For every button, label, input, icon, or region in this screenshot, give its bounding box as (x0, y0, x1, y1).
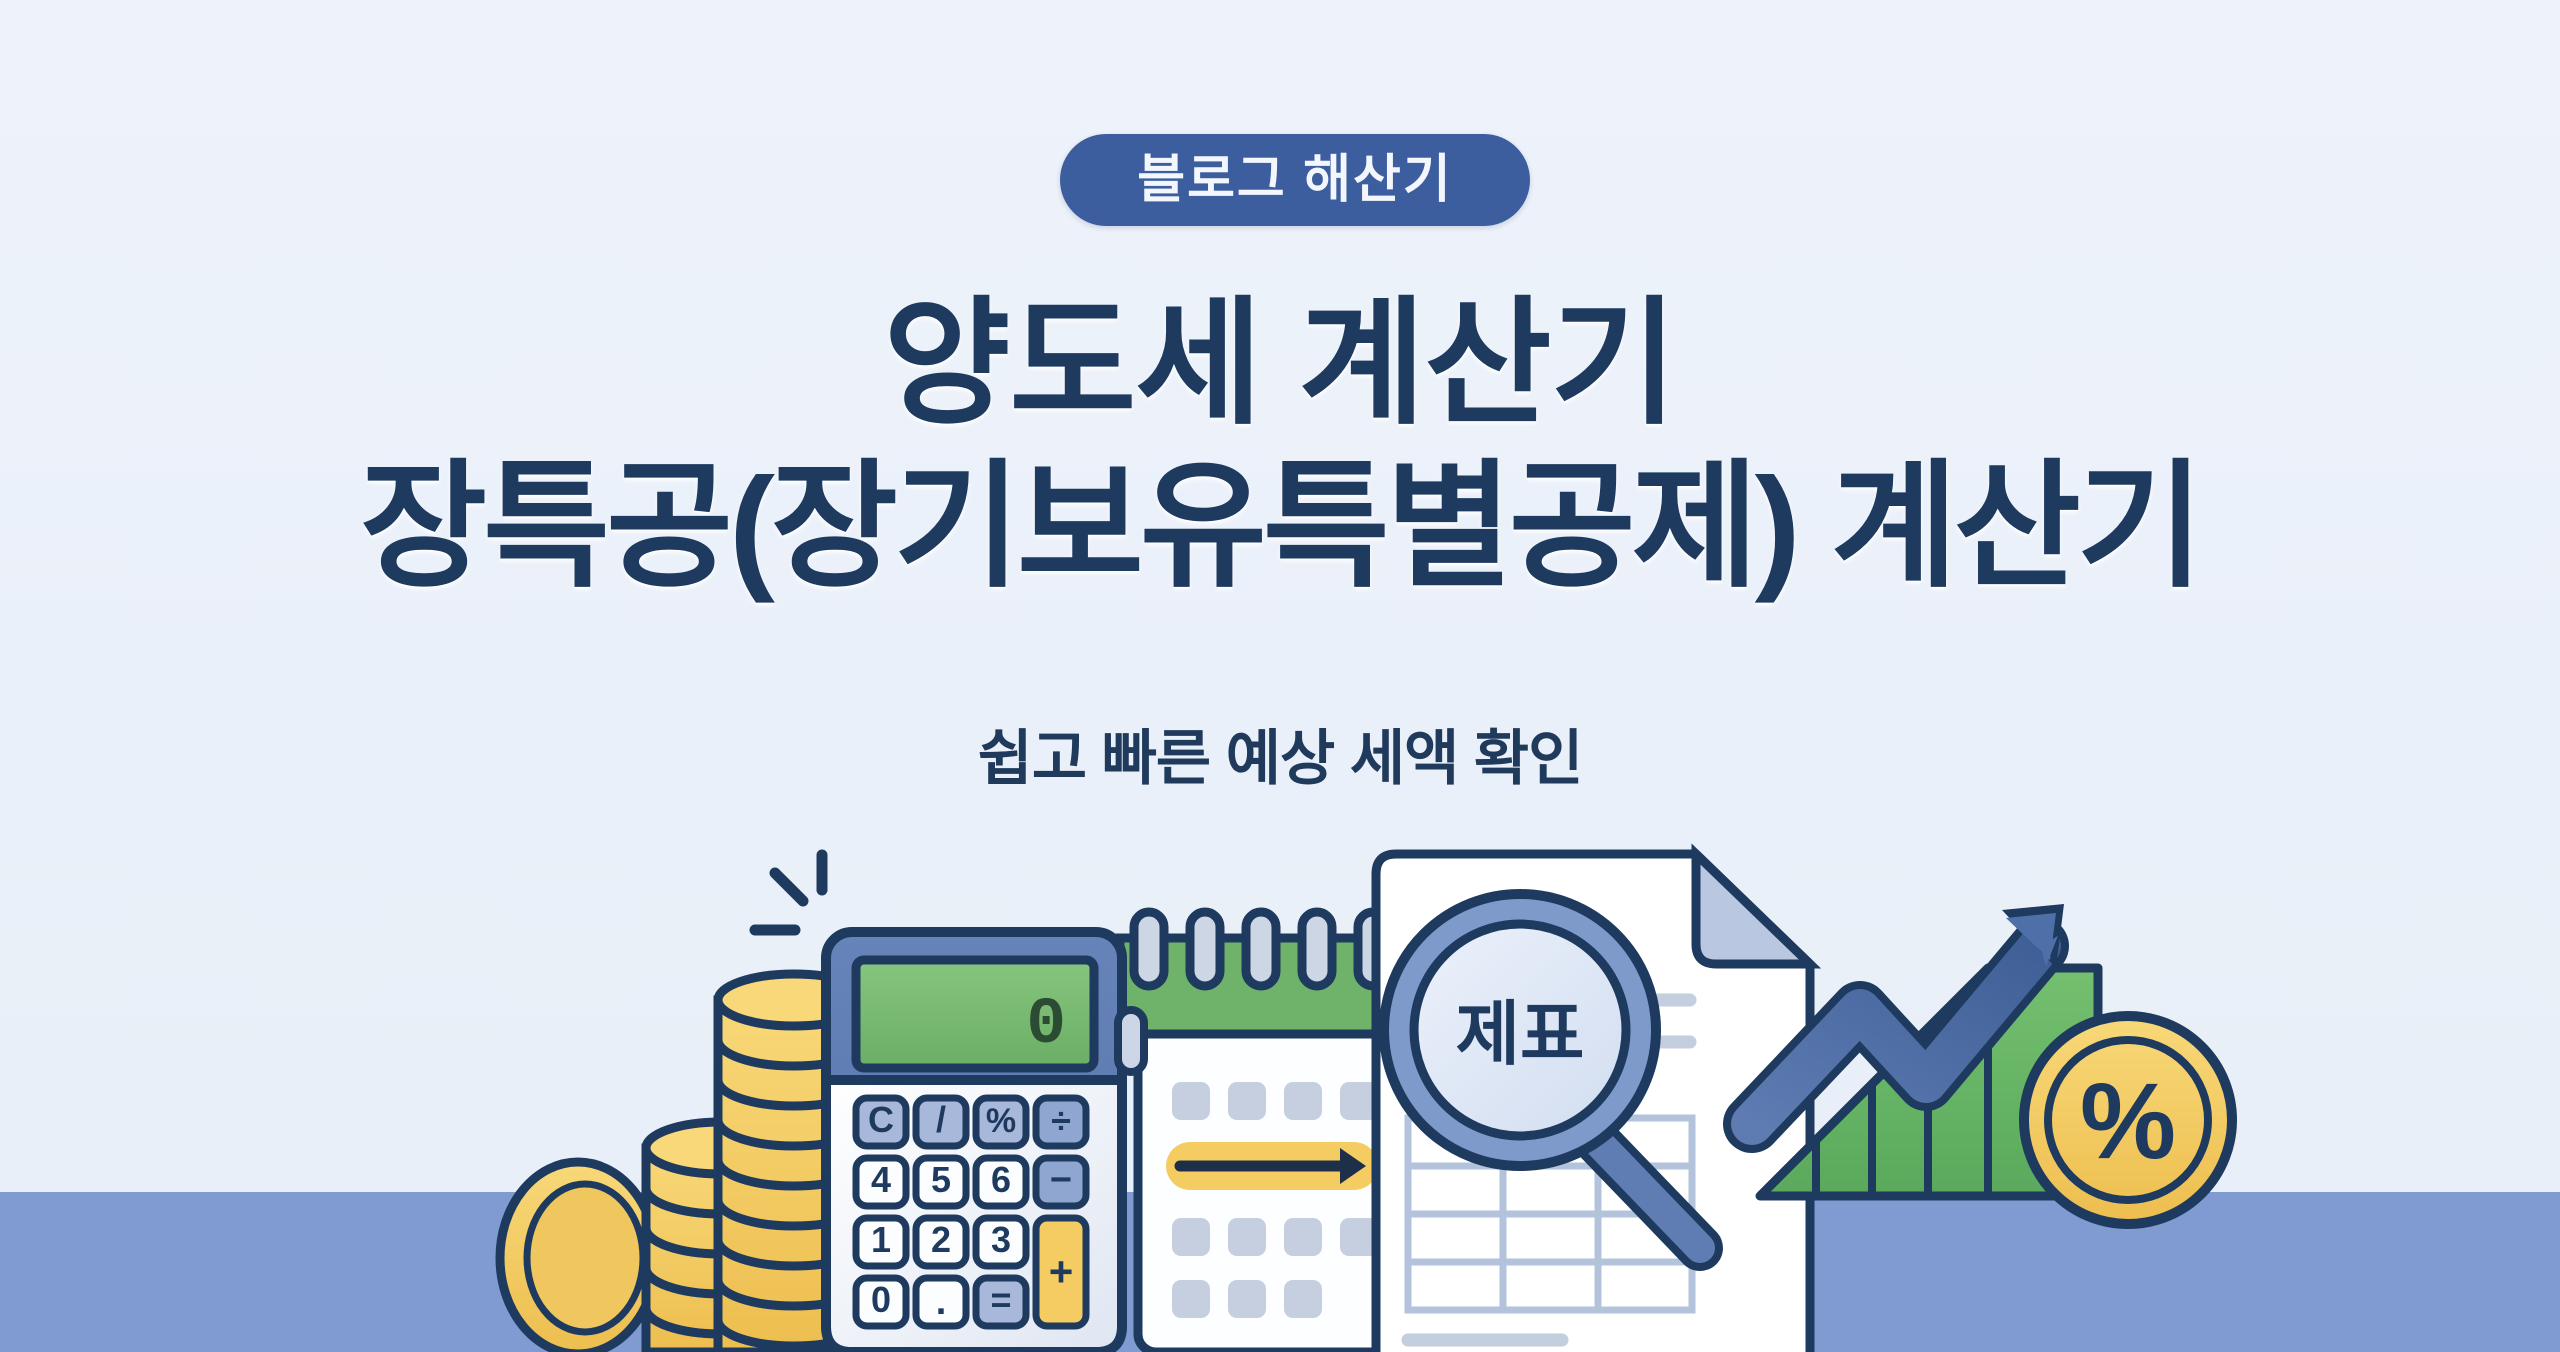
magnifier-label: 제표 (1456, 995, 1585, 1073)
svg-text:6: 6 (991, 1159, 1011, 1200)
svg-text:3: 3 (991, 1219, 1011, 1260)
svg-text:+: + (1049, 1248, 1074, 1295)
svg-text:−: − (1050, 1159, 1072, 1201)
calculator-keys-row-4: 0 . = (856, 1278, 1026, 1326)
svg-text:/: / (936, 1099, 946, 1140)
svg-text:0: 0 (871, 1279, 891, 1320)
svg-text:4: 4 (871, 1159, 891, 1200)
calculator: 0 C / % ÷ 4 (826, 932, 1144, 1352)
sparkle-icon (755, 855, 822, 930)
svg-text:C: C (868, 1099, 894, 1140)
growth-chart: % (1752, 904, 2232, 1224)
hero-illustration: 세표 제표 (0, 0, 2560, 1352)
svg-text:=: = (990, 1279, 1011, 1320)
svg-text:1: 1 (871, 1219, 891, 1260)
coin-stack-flat (500, 1162, 656, 1352)
hero-banner: 블로그 해산기 양도세 계산기 장특공(장기보유특별공제) 계산기 쉽고 빠른 … (0, 0, 2560, 1352)
svg-text:.: . (936, 1281, 947, 1323)
svg-text:5: 5 (931, 1159, 951, 1200)
svg-text:÷: ÷ (1051, 1100, 1071, 1141)
svg-text:%: % (986, 1102, 1016, 1140)
percent-coin: % (2024, 1016, 2232, 1224)
svg-text:2: 2 (931, 1219, 951, 1260)
notebook-highlight-arrow (1166, 1142, 1378, 1190)
percent-symbol: % (2080, 1060, 2176, 1181)
calculator-display-value: 0 (1026, 987, 1066, 1062)
